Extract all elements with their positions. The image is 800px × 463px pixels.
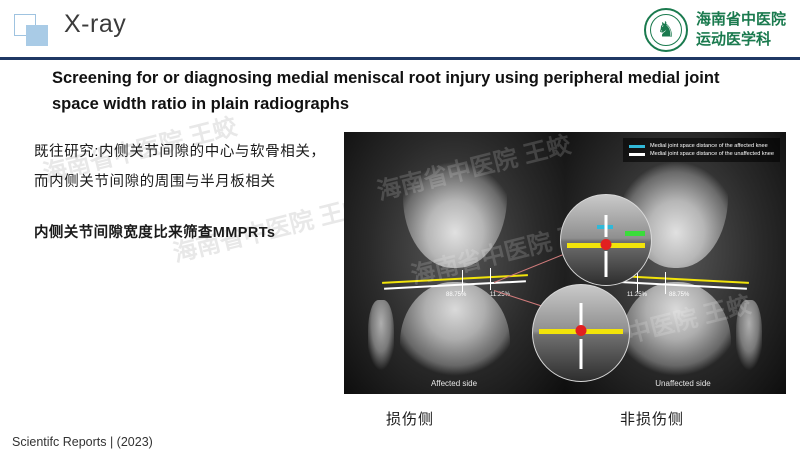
femur-shape <box>403 150 507 268</box>
page-title: Screening for or diagnosing medial menis… <box>52 66 752 117</box>
magnified-center-dot <box>576 325 587 336</box>
organization-block: ♞ 海南省中医院 运动医学科 <box>644 8 786 52</box>
footer-citation: Scientifc Reports | (2023) <box>12 435 153 449</box>
body-paragraph-2: 内侧关节间隙宽度比来筛查MMPRTs <box>34 220 334 246</box>
organization-name: 海南省中医院 运动医学科 <box>696 10 786 51</box>
magnified-center-dot <box>601 239 612 250</box>
caption-unaffected: 非损伤侧 <box>620 408 684 429</box>
percent-label-right-1: 11.25% <box>627 292 647 298</box>
magnified-green-marker <box>625 231 645 236</box>
fibula-shape <box>736 300 762 378</box>
legend-swatch-affected-icon <box>629 145 645 148</box>
body-paragraph-1: 既往研究:内侧关节间隙的中心与软骨相关，而内侧关节间隙的周围与半月板相关 <box>34 137 334 198</box>
magnifier-upper <box>560 194 652 286</box>
legend-item: Medial joint space distance of the unaff… <box>629 150 774 158</box>
organization-line-1: 海南省中医院 <box>696 10 786 30</box>
caption-affected: 损伤侧 <box>386 408 434 429</box>
figure-legend: Medial joint space distance of the affec… <box>623 138 780 162</box>
xray-affected-pane: 88.75% 11.25% Affected side <box>344 132 565 394</box>
legend-label-unaffected: Medial joint space distance of the unaff… <box>650 150 774 158</box>
tick-mark <box>490 268 491 290</box>
legend-item: Medial joint space distance of the affec… <box>629 142 774 150</box>
legend-swatch-unaffected-icon <box>629 153 645 156</box>
magnified-white-bar <box>605 215 608 237</box>
body-text-column: 既往研究:内侧关节间隙的中心与软骨相关，而内侧关节间隙的周围与半月板相关 内侧关… <box>34 137 334 246</box>
tibia-shape <box>400 282 510 392</box>
header-divider <box>0 57 800 60</box>
square-logo-icon <box>14 14 50 48</box>
tibia-shape <box>621 282 731 392</box>
unaffected-side-caption: Unaffected side <box>613 379 753 388</box>
tick-mark <box>665 272 666 294</box>
magnifier-lower <box>532 284 630 382</box>
tick-mark <box>462 270 463 292</box>
slide-header: X-ray ♞ 海南省中医院 运动医学科 <box>0 0 800 62</box>
legend-label-affected: Medial joint space distance of the affec… <box>650 142 768 150</box>
affected-side-caption: Affected side <box>384 379 524 388</box>
xray-figure: 88.75% 11.25% Affected side 11.25% 88.75… <box>344 132 786 394</box>
slide: 海南省中医院 王蛟 海南省中医院 王蛟 X-ray ♞ 海南省中医院 运动医学科… <box>0 0 800 463</box>
fibula-shape <box>368 300 394 378</box>
hospital-emblem-icon: ♞ <box>644 8 688 52</box>
magnified-white-bar <box>605 251 608 277</box>
percent-label-right-2: 88.75% <box>669 292 689 298</box>
slide-kicker: X-ray <box>64 10 126 39</box>
magnified-white-bar <box>580 339 583 369</box>
organization-line-2: 运动医学科 <box>696 30 786 50</box>
percent-label-left-1: 88.75% <box>446 292 466 298</box>
